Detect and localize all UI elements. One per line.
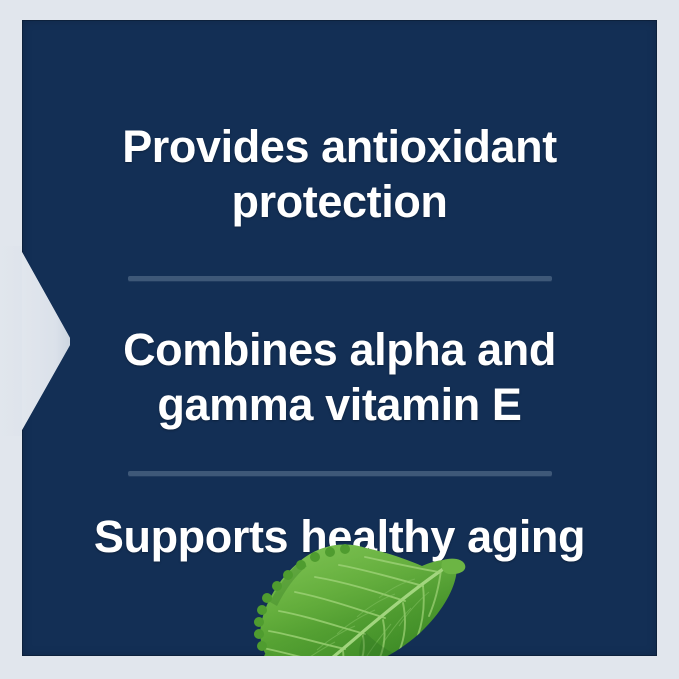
benefit-callout-image: Provides antioxidant protection Combines… <box>0 0 679 679</box>
benefits-list: Provides antioxidant protection Combines… <box>22 20 657 656</box>
benefit-divider-1 <box>128 276 552 281</box>
benefit-item-2: Combines alpha and gamma vitamin E <box>62 323 617 433</box>
bottom-background-strip <box>0 656 679 679</box>
benefit-divider-2 <box>128 471 552 476</box>
benefit-item-1: Provides antioxidant protection <box>62 120 617 230</box>
benefit-item-3: Supports healthy aging <box>62 510 617 565</box>
